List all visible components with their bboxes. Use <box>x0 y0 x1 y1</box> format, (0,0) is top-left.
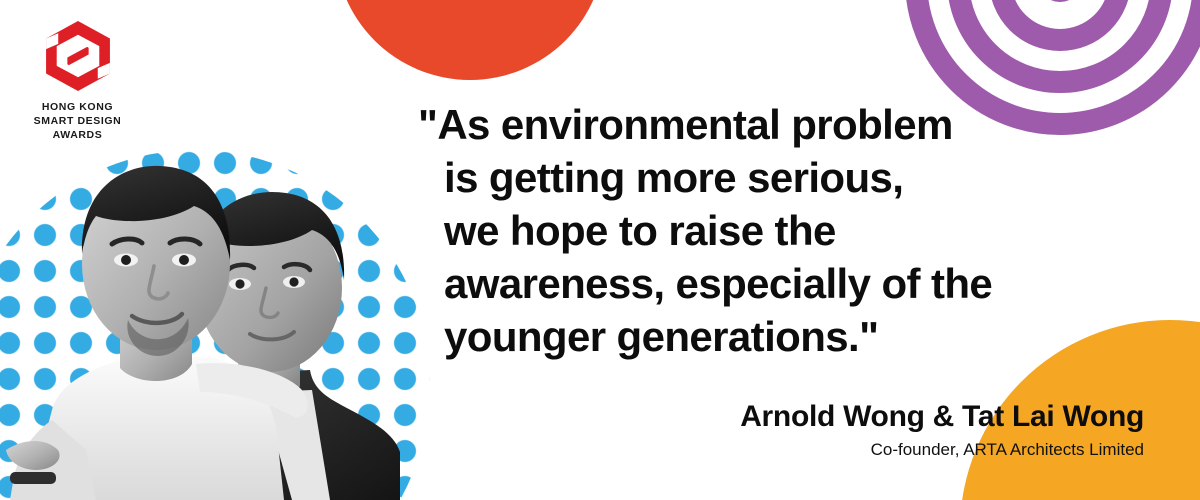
photo-right-man-pupil-left <box>235 279 244 288</box>
photo-right-man-pupil-right <box>289 277 298 286</box>
logo-line-2: SMART DESIGN <box>25 114 130 128</box>
logo-hexagon <box>46 21 110 91</box>
purple-ring-core <box>1038 0 1082 2</box>
attribution-role: Co-founder, ARTA Architects Limited <box>740 440 1144 460</box>
quote-line-1: "As environmental problem <box>418 98 1158 151</box>
quote-line-5: younger generations." <box>418 310 1158 363</box>
portrait-photo-svg <box>0 120 430 500</box>
photo-left-man-watch <box>10 472 56 484</box>
quote-line-3: we hope to raise the <box>418 204 1158 257</box>
quote-line-2: is getting more serious, <box>418 151 1158 204</box>
attribution-name: Arnold Wong & Tat Lai Wong <box>740 400 1144 435</box>
photo-left-man-hand <box>6 441 60 470</box>
logo-wordmark: HONG KONG SMART DESIGN AWARDS <box>25 100 130 143</box>
hksda-logo: HONG KONG SMART DESIGN AWARDS <box>25 18 130 143</box>
quote-banner: HONG KONG SMART DESIGN AWARDS "As enviro… <box>0 0 1200 500</box>
photo-left-man-pupil-right <box>179 255 189 265</box>
attribution-block: Arnold Wong & Tat Lai Wong Co-founder, A… <box>740 400 1144 460</box>
logo-line-1: HONG KONG <box>25 100 130 114</box>
photo-left-man-pupil-left <box>121 255 131 265</box>
logo-line-3: AWARDS <box>25 128 130 142</box>
quote-text: "As environmental problem is getting mor… <box>418 98 1158 363</box>
portrait-photo <box>0 120 430 500</box>
purple-ring-inner <box>1000 0 1120 40</box>
orange-circle <box>335 0 605 80</box>
hexagonal-s-monogram-icon <box>39 18 117 94</box>
quote-line-4: awareness, especially of the <box>418 257 1158 310</box>
